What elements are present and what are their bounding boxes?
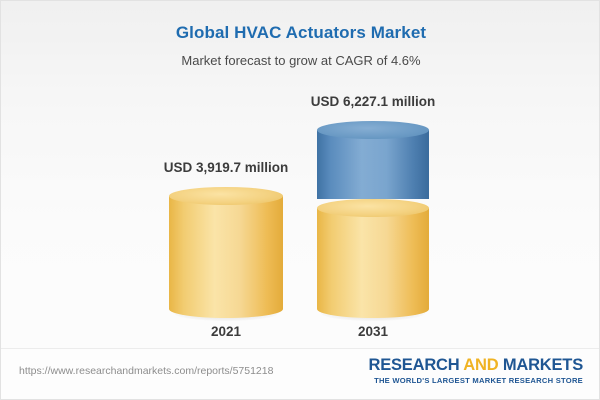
chart-poster: Global HVAC Actuators Market Market fore… — [0, 0, 600, 400]
category-label-2021: 2021 — [211, 324, 241, 339]
bar-segment-growth-2031[interactable] — [317, 121, 429, 199]
logo-word-and: AND — [463, 356, 498, 374]
report-url[interactable]: https://www.researchandmarkets.com/repor… — [19, 365, 273, 377]
bar-top-cap-2021 — [169, 187, 283, 205]
bar-body-2021 — [169, 196, 283, 309]
bar-base-top-cap-2031 — [317, 199, 429, 217]
logo-word-research: RESEARCH — [368, 356, 459, 374]
logo-tagline: THE WORLD'S LARGEST MARKET RESEARCH STOR… — [368, 376, 583, 385]
bar-bottom-cap-2021 — [169, 300, 283, 318]
footer: https://www.researchandmarkets.com/repor… — [1, 348, 599, 399]
brand-logo[interactable]: RESEARCH AND MARKETS THE WORLD'S LARGEST… — [368, 357, 583, 385]
bar-segment-base-2031[interactable] — [317, 199, 429, 309]
category-label-2031: 2031 — [358, 324, 388, 339]
bar-growth-body-2031 — [317, 130, 429, 199]
bar-growth-top-cap-2031 — [317, 121, 429, 139]
bar-base-body-2031 — [317, 208, 429, 309]
plot-area: USD 3,919.7 million 2021 USD 6,227.1 mil… — [1, 1, 600, 349]
bar-value-label-2031: USD 6,227.1 million — [311, 94, 436, 109]
bar-cylinder-2021[interactable] — [169, 187, 283, 309]
logo-word-markets: MARKETS — [503, 356, 583, 374]
bar-bottom-cap-2031 — [317, 300, 429, 318]
logo-wordmark: RESEARCH AND MARKETS — [368, 357, 583, 374]
bar-value-label-2021: USD 3,919.7 million — [164, 160, 289, 175]
